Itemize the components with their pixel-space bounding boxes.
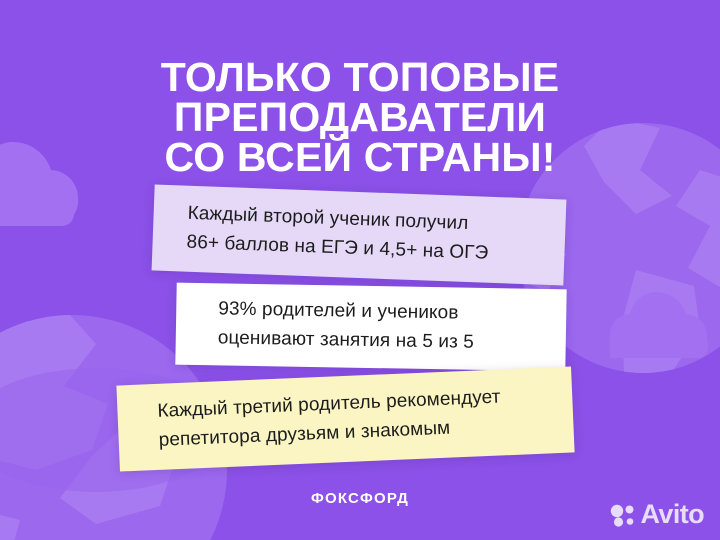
avito-watermark: Avito — [609, 501, 705, 528]
headline-line-1: Только топовые — [0, 57, 720, 97]
headline-line-2: преподаватели — [0, 97, 720, 137]
card-2-line-2: оценивают занятия на 5 из 5 — [218, 324, 566, 359]
page-title: Только топовые преподаватели со всей стр… — [0, 57, 720, 178]
headline-line-3: со всей страны! — [0, 137, 720, 177]
avito-wordmark: Avito — [641, 501, 705, 528]
statement-card-rating: 93% родителей и учеников оценивают занят… — [175, 283, 566, 372]
statement-card-exam-scores: Каждый второй ученик получил 86+ баллов … — [152, 184, 567, 285]
avito-dots-icon — [609, 503, 635, 527]
poster-canvas: Только топовые преподаватели со всей стр… — [0, 0, 720, 540]
statement-card-recommendation: Каждый третий родитель рекомендует репет… — [116, 367, 574, 472]
